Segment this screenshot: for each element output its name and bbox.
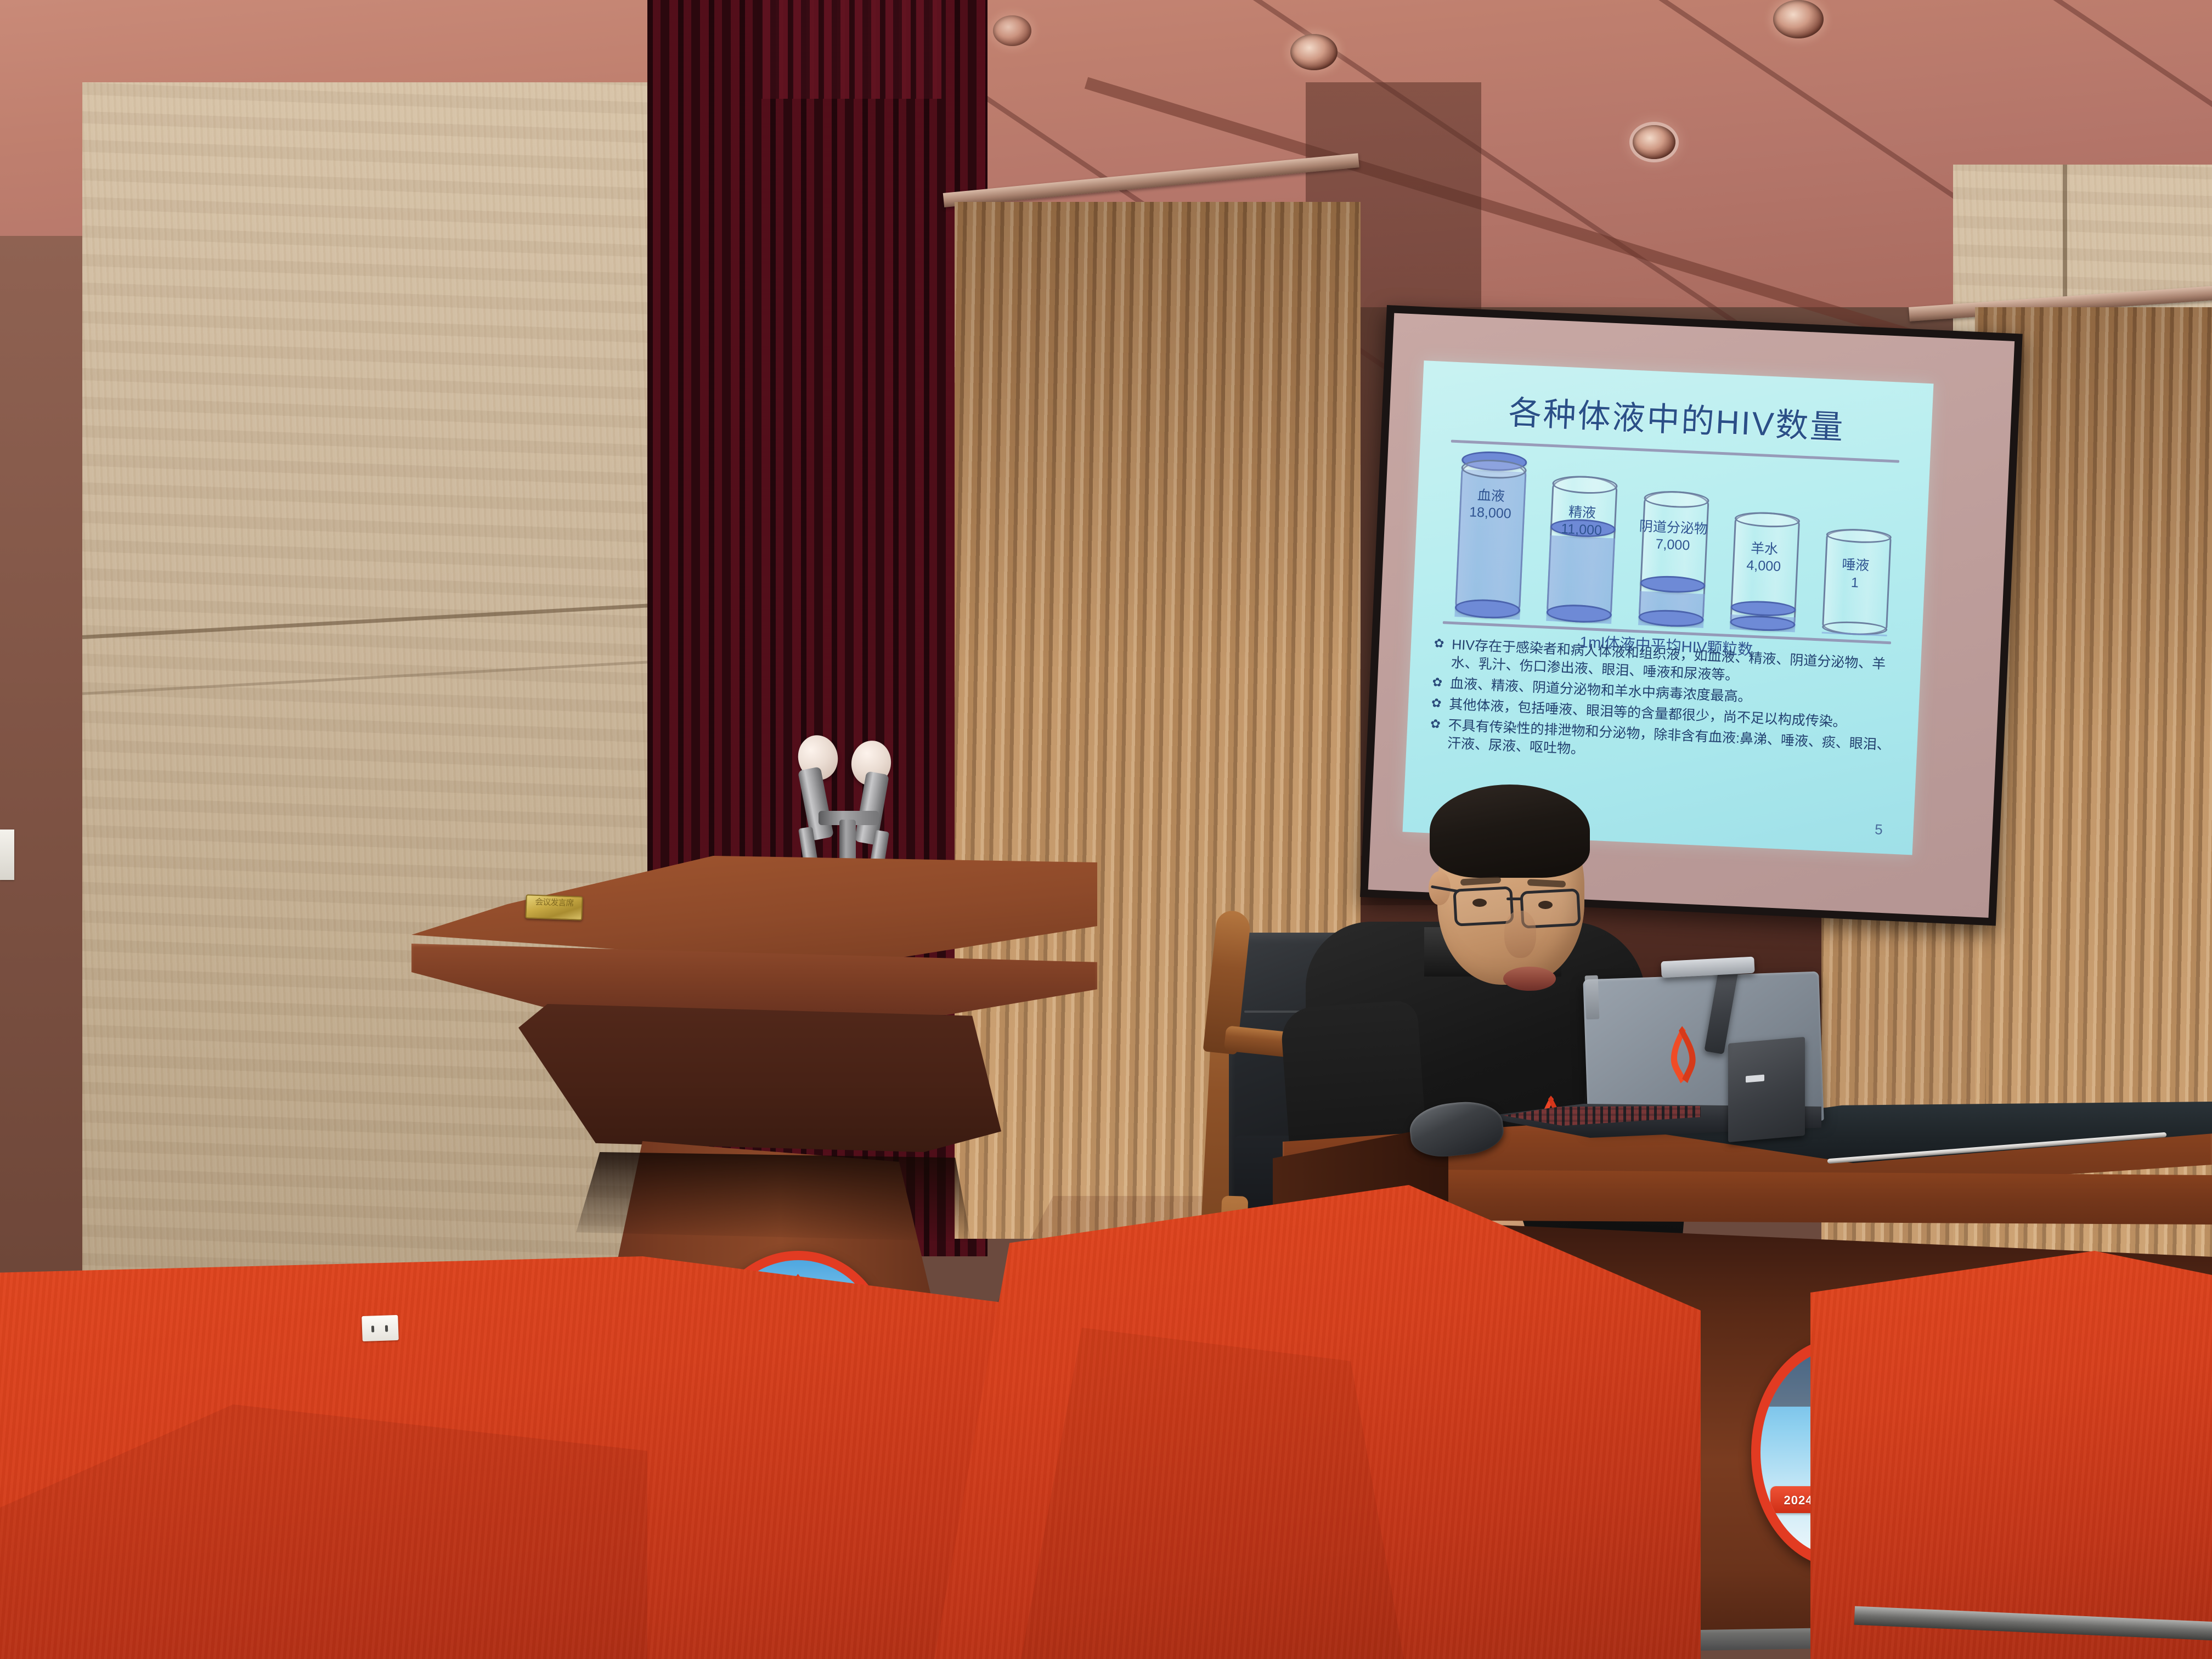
cylinder-rim xyxy=(1826,528,1892,544)
conference-hall-photo: 各种体液中的HIV数量 血液18,000精液11,000阴道分泌物7,000羊水… xyxy=(0,0,2212,1659)
chart-cylinder-label: 血液18,000 xyxy=(1469,487,1512,523)
cylinder-rim xyxy=(1735,511,1801,529)
eyeglasses-lens-left xyxy=(1453,886,1514,927)
red-ribbon-sticker-icon xyxy=(1660,1019,1707,1093)
presenter-eye xyxy=(1538,901,1553,909)
chart-cylinder xyxy=(1638,490,1709,628)
carpet-right xyxy=(1810,1251,2212,1659)
chart-cylinder xyxy=(1547,475,1618,624)
red-velvet-curtain-top xyxy=(757,0,944,99)
floor-shadow xyxy=(1020,1328,1404,1659)
bullet-marker-icon: ✿ xyxy=(1433,635,1444,672)
slide-page-number: 5 xyxy=(1875,821,1883,839)
ceiling-downlight xyxy=(1633,125,1675,159)
chart-cylinder-label: 羊水4,000 xyxy=(1746,540,1782,575)
bullet-marker-icon: ✿ xyxy=(1431,695,1442,713)
ceiling-downlight xyxy=(993,15,1031,46)
chart-cylinder-label: 阴道分泌物7,000 xyxy=(1638,518,1708,555)
lectern-midsection xyxy=(518,1004,1001,1152)
wall-plate xyxy=(0,830,14,880)
chart-cylinder-label: 唾液1 xyxy=(1841,557,1870,592)
slide-bullet-list: ✿HIV存在于感染者和病人体液和组织液，如血液、精液、阴道分泌物、羊水、乳汁、伤… xyxy=(1429,635,1906,776)
laptop-dock[interactable] xyxy=(1728,1037,1805,1142)
presenter-nose xyxy=(1504,911,1536,958)
chart-cylinder-label: 精液11,000 xyxy=(1561,504,1603,540)
chart-cylinder xyxy=(1454,458,1527,620)
power-outlet[interactable] xyxy=(362,1315,399,1341)
ceiling-downlight xyxy=(1773,0,1824,38)
lectern-plaque-text: 会议发言席 xyxy=(527,895,582,908)
eyeglasses-bridge xyxy=(1506,898,1523,900)
presenter-mouth xyxy=(1503,967,1556,991)
projected-slide: 各种体液中的HIV数量 血液18,000精液11,000阴道分泌物7,000羊水… xyxy=(1402,360,1933,855)
presenter-hair xyxy=(1430,785,1590,878)
lectern-top-edge xyxy=(411,944,1097,1015)
bullet-marker-icon: ✿ xyxy=(1432,674,1443,692)
cylinder-rim xyxy=(1644,490,1709,509)
bullet-marker-icon: ✿ xyxy=(1429,715,1441,752)
laptop-hinge xyxy=(1585,975,1600,1020)
presenter-eye xyxy=(1472,899,1487,907)
cylinder-rim xyxy=(1552,475,1618,495)
hiv-cylinder-chart: 血液18,000精液11,000阴道分泌物7,000羊水4,000唾液1 xyxy=(1433,460,1899,636)
ceiling-downlight xyxy=(1290,34,1338,70)
lectern-plaque: 会议发言席 xyxy=(525,894,583,921)
lectern-shadow xyxy=(576,1152,971,1245)
